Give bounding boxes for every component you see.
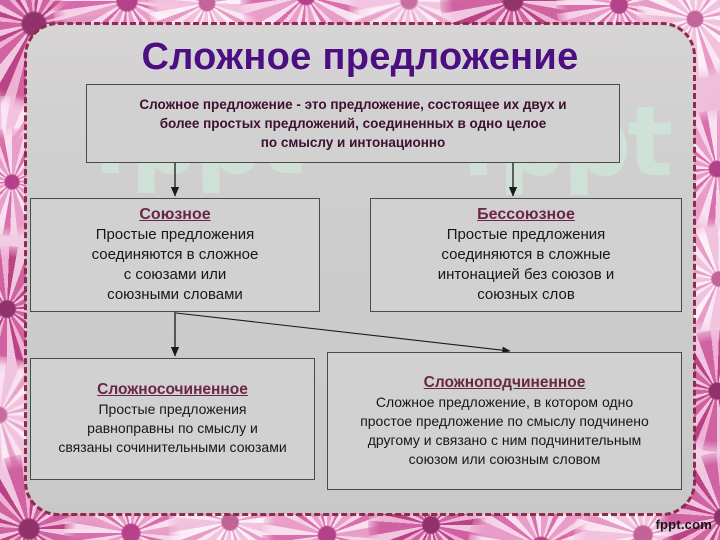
definition-box: Сложное предложение - это предложение, с… [86, 84, 620, 163]
box-union-heading: Союзное [139, 206, 210, 224]
box-line: союзных слов [438, 285, 615, 305]
box-line: другому и связано с ним подчинительным [360, 431, 649, 450]
box-nonunion-body: Простые предложения соединяются в сложны… [438, 225, 615, 305]
box-nonunion: Бессоюзное Простые предложения соединяют… [370, 198, 682, 312]
box-line: интонацией без союзов и [438, 265, 615, 285]
box-line: Сложное предложение, в котором одно [360, 393, 649, 412]
slide-canvas: fppt fppt fppt fppt Сложное предложение … [0, 0, 720, 540]
box-line: простое предложение по смыслу подчинено [360, 412, 649, 431]
box-complex: Сложноподчиненное Сложное предложение, в… [327, 352, 682, 490]
box-line: связаны сочинительными союзами [58, 438, 286, 457]
definition-line: Сложное предложение - это предложение, с… [139, 95, 566, 114]
box-line: с союзами или [92, 265, 259, 285]
box-compound-body: Простые предложения равноправны по смысл… [58, 400, 286, 457]
box-complex-heading: Сложноподчиненное [424, 374, 586, 392]
box-line: соединяются в сложные [438, 245, 615, 265]
box-compound-heading: Сложносочиненное [97, 381, 248, 399]
box-complex-body: Сложное предложение, в котором одно прос… [360, 393, 649, 469]
box-line: Простые предложения [438, 225, 615, 245]
definition-text: Сложное предложение - это предложение, с… [139, 95, 566, 152]
connector-union-to-complex [176, 313, 510, 351]
box-line: Простые предложения [92, 225, 259, 245]
box-line: равноправны по смыслу и [58, 419, 286, 438]
definition-line: по смыслу и интонационно [139, 133, 566, 152]
box-compound: Сложносочиненное Простые предложения рав… [30, 358, 315, 480]
box-line: союзом или союзным словом [360, 450, 649, 469]
box-line: Простые предложения [58, 400, 286, 419]
box-line: союзными словами [92, 285, 259, 305]
fppt-logo[interactable]: fppt.com [656, 517, 712, 532]
box-union-body: Простые предложения соединяются в сложно… [92, 225, 259, 305]
box-nonunion-heading: Бессоюзное [477, 206, 575, 224]
box-line: соединяются в сложное [92, 245, 259, 265]
definition-line: более простых предложений, соединенных в… [139, 114, 566, 133]
box-union: Союзное Простые предложения соединяются … [30, 198, 320, 312]
